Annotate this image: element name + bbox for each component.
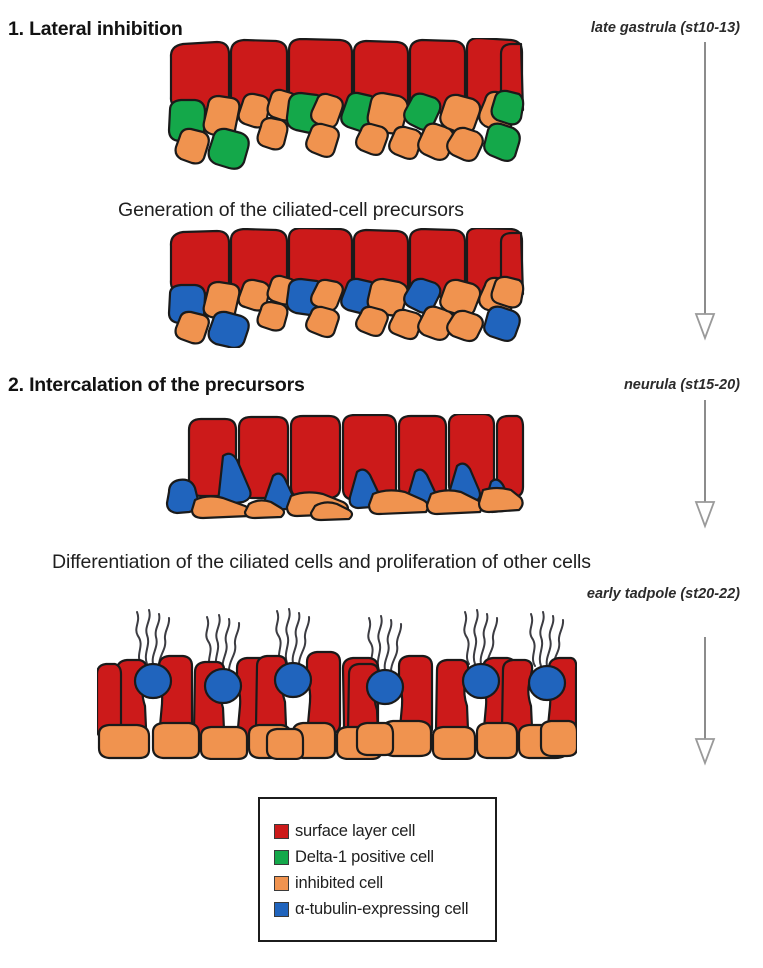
legend-label: surface layer cell (295, 822, 415, 841)
caption-differentiation: Differentiation of the ciliated cells an… (52, 551, 591, 574)
cilia-tuft (464, 610, 497, 665)
timeline-arrow-1 (688, 42, 722, 342)
timeline-arrow-3 (688, 637, 722, 767)
inner-cell-cluster (169, 276, 523, 348)
panel-intercalation (165, 414, 525, 526)
section-heading-intercalation: 2. Intercalation of the precursors (8, 374, 305, 397)
stage-label-early-tadpole: early tadpole (st20-22) (587, 586, 740, 602)
legend-list: surface layer cell Delta-1 positive cell… (274, 820, 468, 921)
figure-canvas: 1. Lateral inhibition 2. Intercalation o… (0, 0, 763, 968)
green-swatch (274, 850, 289, 865)
panel-precursor-generation (165, 228, 525, 348)
panel-differentiation (97, 598, 577, 760)
section-heading-lateral-inhibition: 1. Lateral inhibition (8, 18, 183, 41)
legend-item-alpha-tubulin-cell: α-tubulin-expressing cell (274, 898, 468, 921)
legend-item-inhibited-cell: inhibited cell (274, 872, 468, 895)
orange-swatch (274, 876, 289, 891)
legend-label: inhibited cell (295, 874, 383, 893)
timeline-arrow-2 (688, 400, 722, 530)
inner-cell-cluster (169, 90, 523, 169)
legend-item-surface-layer-cell: surface layer cell (274, 820, 468, 843)
stage-label-late-gastrula: late gastrula (st10-13) (591, 20, 740, 36)
panel-lateral-inhibition (165, 38, 525, 173)
red-swatch (274, 824, 289, 839)
stage-label-neurula: neurula (st15-20) (624, 377, 740, 393)
legend-label: α-tubulin-expressing cell (295, 900, 468, 919)
blue-swatch (274, 902, 289, 917)
legend-label: Delta-1 positive cell (295, 848, 434, 867)
caption-precursor-generation: Generation of the ciliated-cell precurso… (118, 199, 464, 222)
legend-item-delta1-positive-cell: Delta-1 positive cell (274, 846, 468, 869)
legend-box: surface layer cell Delta-1 positive cell… (258, 797, 497, 942)
